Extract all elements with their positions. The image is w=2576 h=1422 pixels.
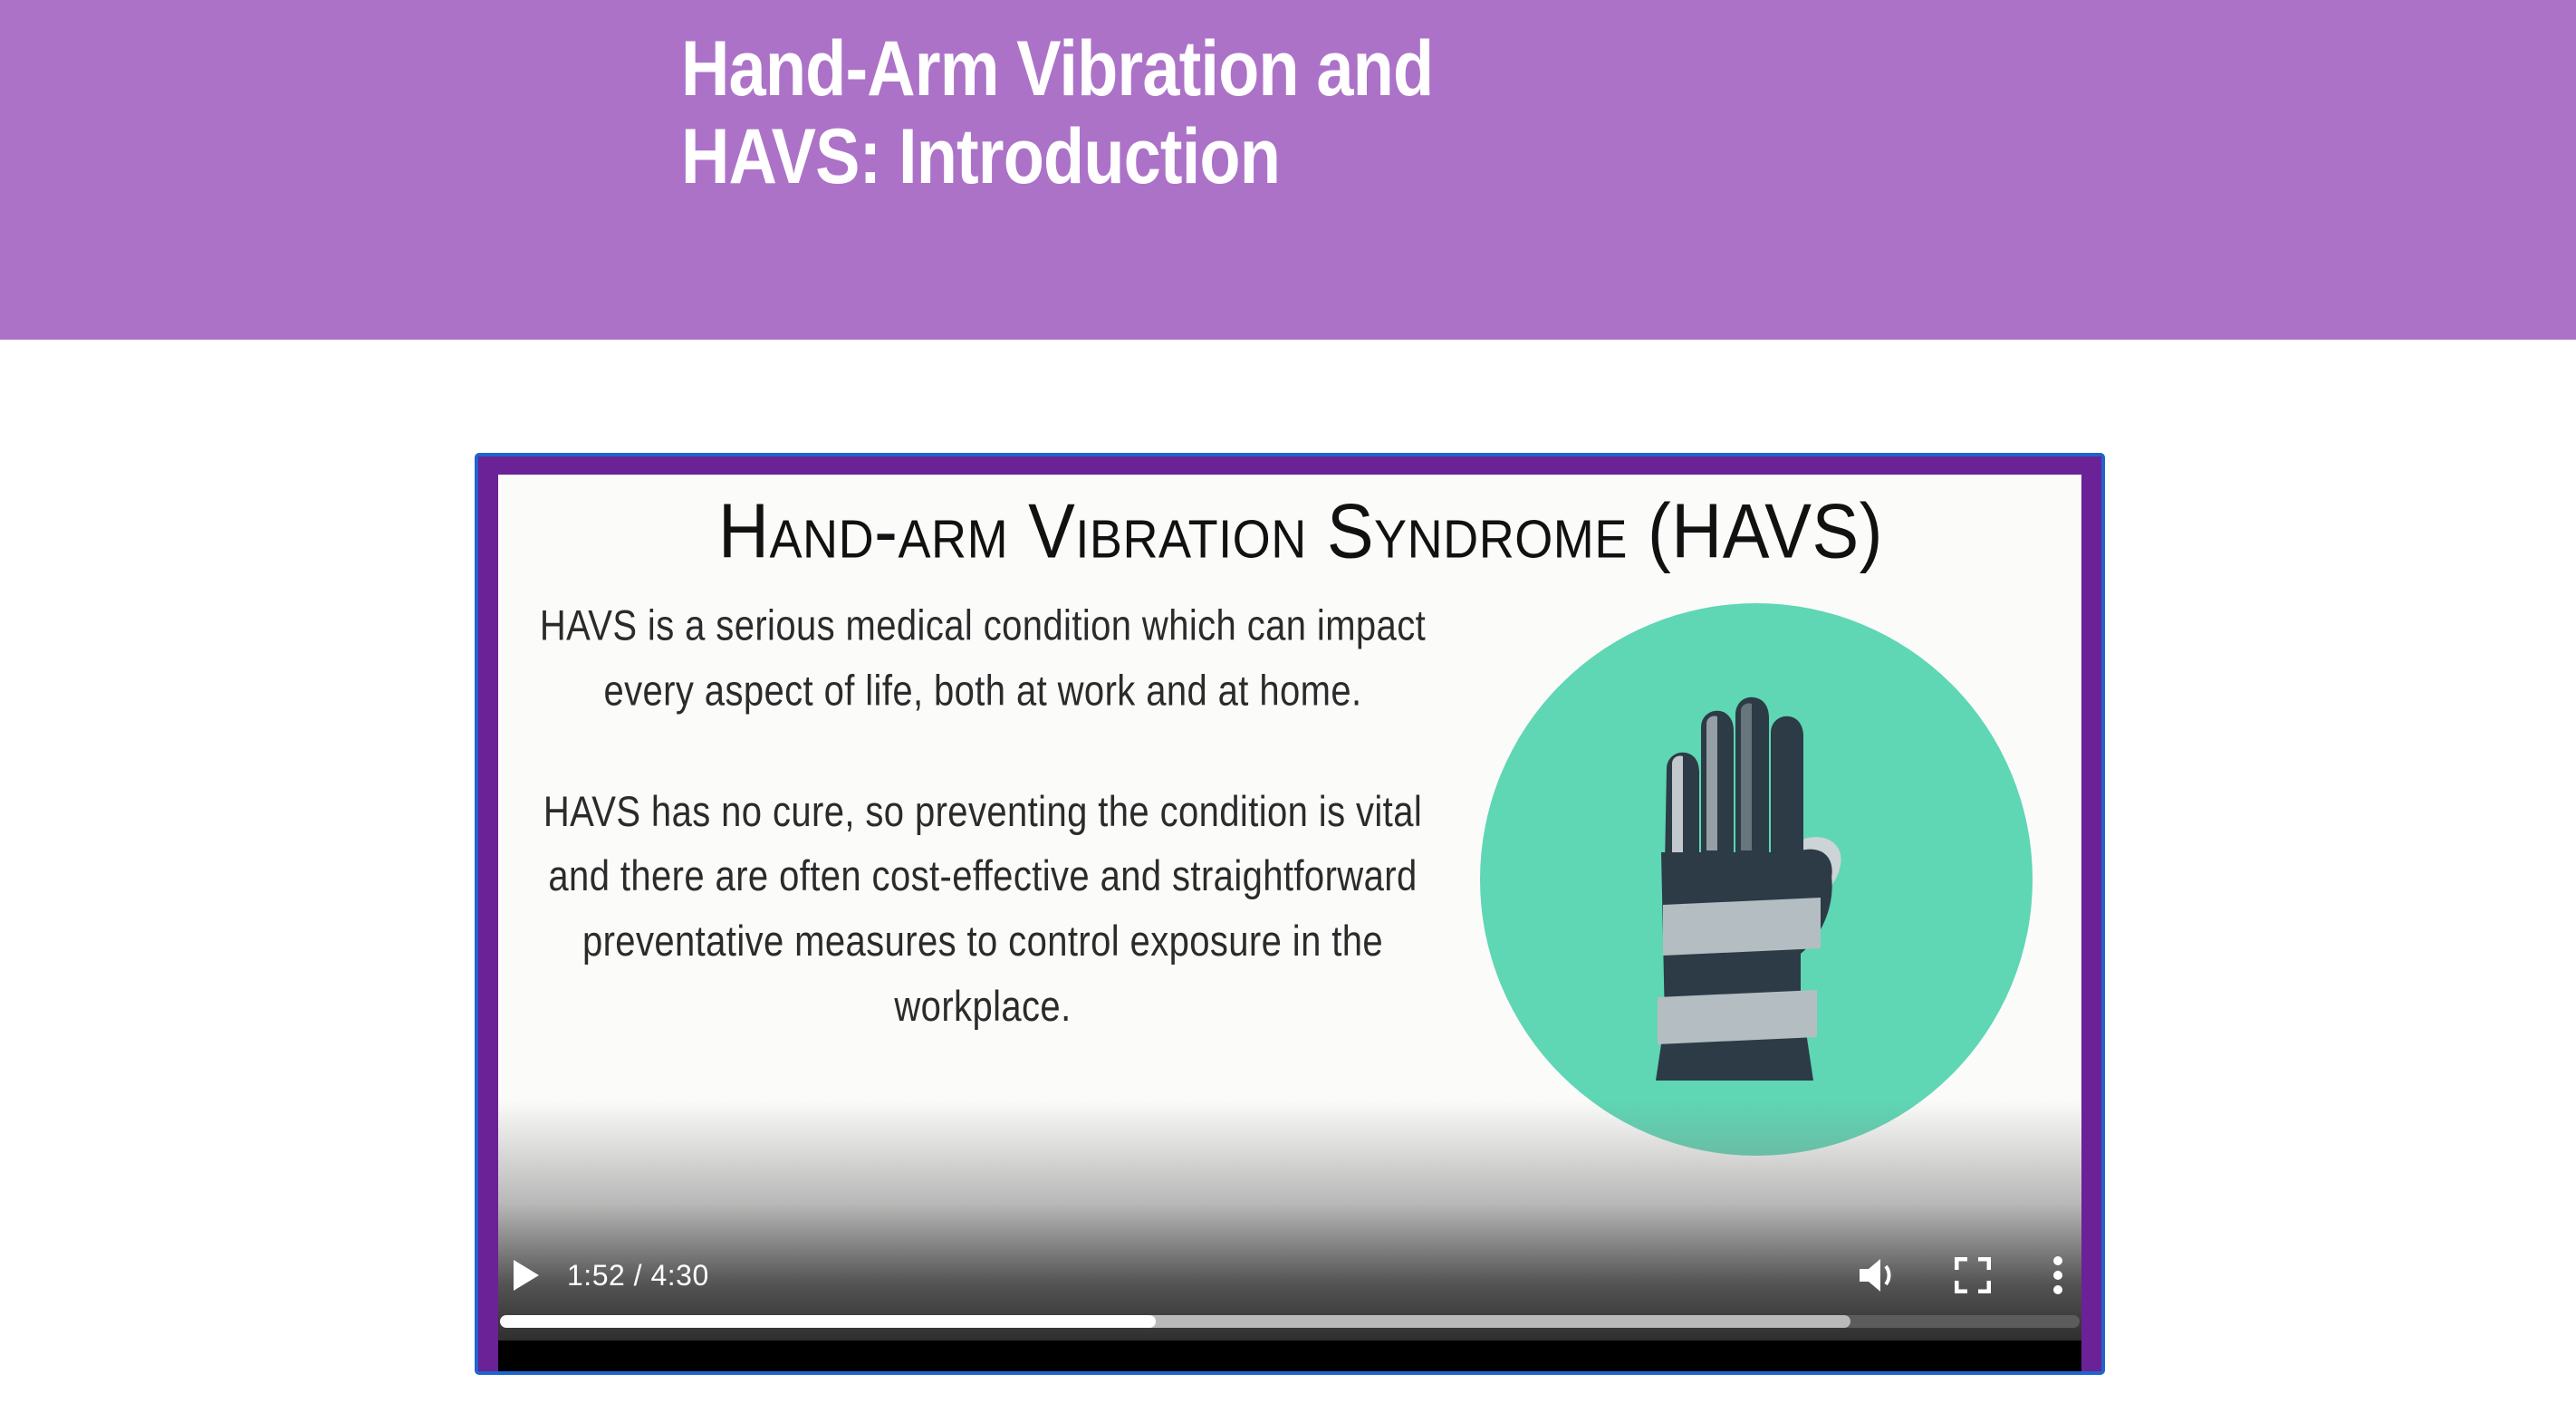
- kebab-menu-icon: [2052, 1255, 2063, 1295]
- play-triangle-icon: [510, 1257, 541, 1293]
- volume-button[interactable]: [1851, 1250, 1906, 1301]
- fullscreen-button[interactable]: [1947, 1250, 1998, 1301]
- video-slide-frame: Hand-arm Vibration Syndrome (HAVS) HAVS …: [478, 456, 2101, 1371]
- video-player[interactable]: Hand-arm Vibration Syndrome (HAVS) HAVS …: [475, 453, 2105, 1375]
- slide-image-column: [1431, 594, 2081, 1156]
- page-header: Hand-Arm Vibration and HAVS: Introductio…: [0, 0, 2576, 340]
- time-display: 1:52 / 4:30: [567, 1259, 709, 1292]
- progress-bar[interactable]: [500, 1315, 2080, 1328]
- controls-footer-bar: [498, 1340, 2081, 1371]
- slide-text-column: HAVS is a serious medical condition whic…: [498, 594, 1431, 1040]
- video-controls-bar: 1:52 / 4:30: [498, 1235, 2081, 1371]
- slide-paragraph-2: HAVS has no cure, so preventing the cond…: [534, 780, 1431, 1040]
- play-button[interactable]: [500, 1250, 551, 1301]
- slide-paragraph-1: HAVS is a serious medical condition whic…: [534, 594, 1431, 724]
- volume-up-icon: [1858, 1256, 1899, 1294]
- progress-played: [500, 1315, 1156, 1328]
- slide-title: Hand-arm Vibration Syndrome (HAVS): [510, 487, 2081, 575]
- fullscreen-icon: [1955, 1257, 1991, 1293]
- slide-body: HAVS is a serious medical condition whic…: [498, 594, 2081, 1283]
- glove-circle-backdrop: [1480, 603, 2033, 1156]
- safety-glove-icon: [1607, 671, 1906, 1088]
- main-content-area: Hand-arm Vibration Syndrome (HAVS) HAVS …: [0, 340, 2576, 1422]
- more-options-button[interactable]: [2040, 1250, 2076, 1301]
- page-title: Hand-Arm Vibration and HAVS: Introductio…: [681, 25, 1772, 201]
- video-controls-row: 1:52 / 4:30: [498, 1246, 2081, 1304]
